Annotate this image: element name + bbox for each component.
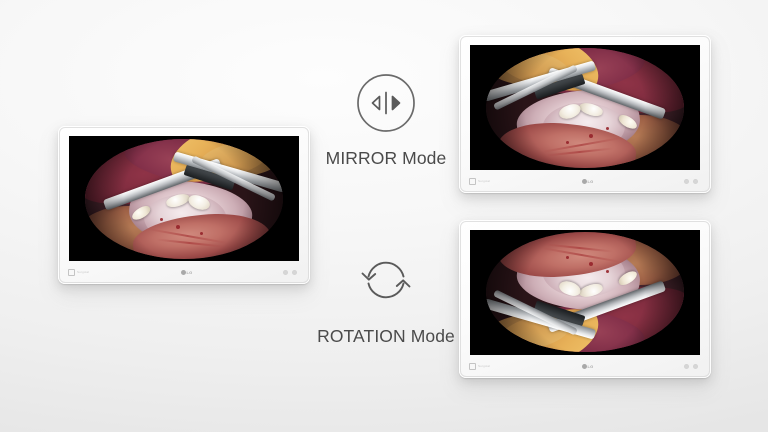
lg-logo: LG: [181, 270, 193, 275]
monitor-button-2-icon[interactable]: [293, 271, 296, 274]
scene-root: Surgical LG MIRROR Mode: [0, 0, 768, 432]
lg-logo-label: LG: [588, 365, 594, 369]
monitor-button-2-icon[interactable]: [694, 180, 697, 183]
lg-circle-icon: [181, 270, 186, 275]
monitor-button-1-icon[interactable]: [685, 180, 688, 183]
monitor-mirrored[interactable]: Surgical LG: [459, 35, 711, 193]
brand-mark-icon: [469, 178, 476, 185]
monitor-brand-badge: Surgical: [68, 269, 89, 276]
monitor-brand-label: Surgical: [77, 271, 89, 274]
monitor-brand-badge: Surgical: [469, 363, 490, 370]
monitor-mirrored-screen: [470, 45, 700, 170]
lg-logo-label: LG: [588, 180, 594, 184]
monitor-buttons[interactable]: [284, 271, 300, 274]
lg-logo: LG: [582, 364, 594, 369]
mirror-flip-icon[interactable]: [355, 72, 417, 139]
endoscopic-image-mirrored: [470, 45, 700, 170]
brand-mark-icon: [469, 363, 476, 370]
monitor-button-1-icon[interactable]: [284, 271, 287, 274]
monitor-brand-label: Surgical: [478, 365, 490, 368]
monitor-source[interactable]: Surgical LG: [58, 126, 310, 284]
lg-logo: LG: [582, 179, 594, 184]
monitor-source-screen: [69, 136, 299, 261]
endoscopic-image-source: [69, 136, 299, 261]
monitor-brand-badge: Surgical: [469, 178, 490, 185]
mirror-mode-label: MIRROR Mode: [326, 150, 447, 168]
endoscopic-image-rotated: [470, 230, 700, 355]
monitor-rotated-bezel: Surgical LG: [459, 355, 711, 378]
rotation-mode-label: ROTATION Mode: [317, 328, 455, 346]
lg-logo-label: LG: [187, 271, 193, 275]
monitor-buttons[interactable]: [685, 180, 701, 183]
brand-mark-icon: [68, 269, 75, 276]
lg-circle-icon: [582, 364, 587, 369]
monitor-button-1-icon[interactable]: [685, 365, 688, 368]
lg-circle-icon: [582, 179, 587, 184]
monitor-buttons[interactable]: [685, 365, 701, 368]
mirror-mode-block: MIRROR Mode: [325, 72, 447, 168]
monitor-source-bezel: Surgical LG: [58, 261, 310, 284]
monitor-brand-label: Surgical: [478, 180, 490, 183]
monitor-button-2-icon[interactable]: [694, 365, 697, 368]
monitor-mirrored-bezel: Surgical LG: [459, 170, 711, 193]
rotation-mode-block: ROTATION Mode: [312, 248, 460, 346]
monitor-rotated[interactable]: Surgical LG: [459, 220, 711, 378]
rotate-circular-arrows-icon[interactable]: [352, 248, 420, 317]
monitor-rotated-screen: [470, 230, 700, 355]
